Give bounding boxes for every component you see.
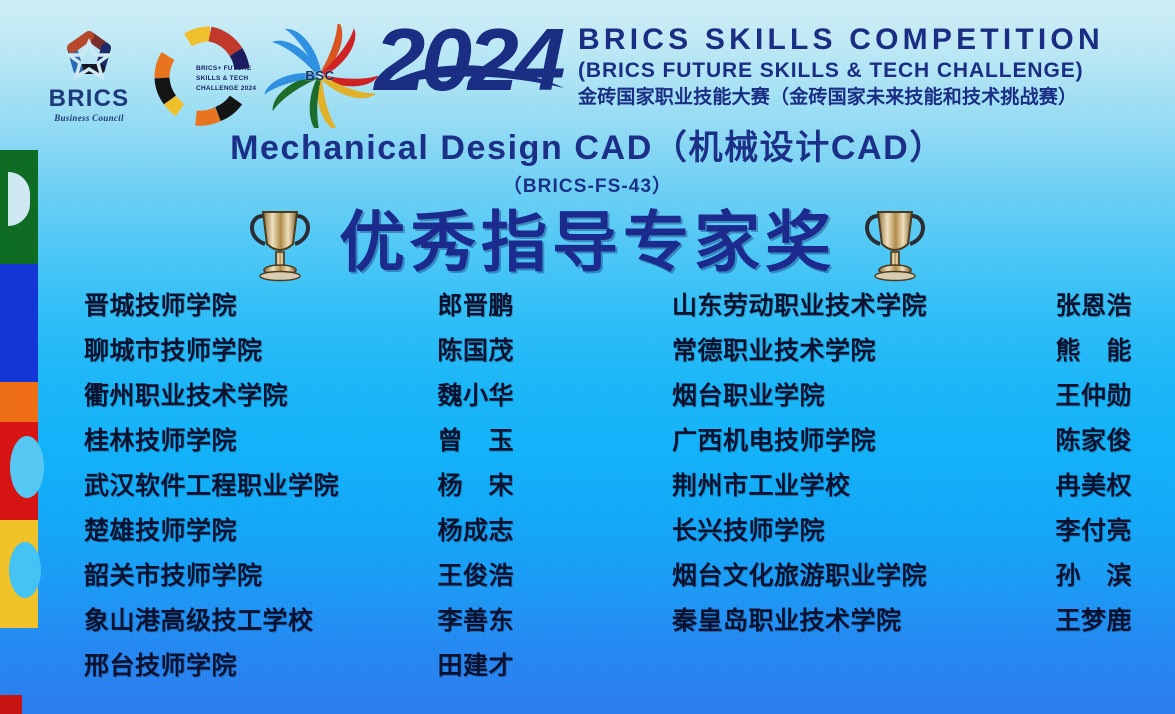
- headline-english-line2: (BRICS FUTURE SKILLS & TECH CHALLENGE): [578, 58, 1174, 83]
- year-2024-graphic: 2024: [378, 24, 578, 124]
- school-name: 山东劳动职业技术学院: [672, 286, 927, 322]
- brics-star-icon: [58, 28, 120, 86]
- expert-name: 张恩浩: [1028, 286, 1132, 322]
- school-name: 韶关市技师学院: [84, 556, 263, 592]
- winner-row: 象山港高级技工学校 李善东: [84, 601, 514, 646]
- bsc-wordmark: BSC: [262, 68, 378, 83]
- school-name: 楚雄技师学院: [84, 511, 237, 547]
- competition-subtitle: Mechanical Design CAD（机械设计CAD）: [0, 128, 1175, 168]
- expert-name: 王仲勋: [1028, 376, 1132, 412]
- school-name: 邢台技师学院: [84, 646, 237, 682]
- expert-name: 王俊浩: [418, 556, 514, 592]
- headline-english-line1: BRICS SKILLS COMPETITION: [578, 24, 1174, 56]
- ring-text-line2: SKILLS & TECH: [196, 74, 258, 84]
- expert-name: 杨成志: [418, 511, 514, 547]
- expert-name: 孙 滨: [1028, 556, 1132, 592]
- winner-row: 广西机电技师学院 陈家俊: [672, 421, 1132, 466]
- bbc-tagline: Business Council: [40, 113, 138, 123]
- edge-red-dot: [0, 695, 22, 714]
- bbc-wordmark: BRICS: [40, 87, 138, 111]
- award-title-row: 优秀指导专家奖: [0, 196, 1175, 290]
- winner-row: 秦皇岛职业技术学院 王梦鹿: [672, 601, 1132, 646]
- winners-column-left: 晋城技师学院 郎晋鹏 聊城市技师学院 陈国茂 衢州职业技术学院 魏小华 桂林技师…: [84, 286, 514, 691]
- ring-text-line3: CHALLENGE 2024: [196, 84, 258, 94]
- award-title: 优秀指导专家奖: [339, 210, 836, 276]
- winner-row: 邢台技师学院 田建才: [84, 646, 514, 691]
- headline-chinese: 金砖国家职业技能大赛（金砖国家未来技能和技术挑战赛）: [578, 86, 1174, 110]
- expert-name: 郎晋鹏: [418, 286, 514, 322]
- school-name: 武汉软件工程职业学院: [84, 466, 339, 502]
- school-name: 烟台文化旅游职业学院: [672, 556, 927, 592]
- expert-name: 田建才: [418, 646, 514, 682]
- winner-row: 楚雄技师学院 杨成志: [84, 511, 514, 556]
- winner-row: 桂林技师学院 曾 玉: [84, 421, 514, 466]
- expert-name: 冉美权: [1028, 466, 1132, 502]
- school-name: 衢州职业技术学院: [84, 376, 288, 412]
- competition-code: （BRICS-FS-43）: [0, 171, 1175, 198]
- winner-row: 衢州职业技术学院 魏小华: [84, 376, 514, 421]
- winner-row: 常德职业技术学院 熊 能: [672, 331, 1132, 376]
- expert-name: 陈家俊: [1028, 421, 1132, 457]
- school-name: 桂林技师学院: [84, 421, 237, 457]
- expert-name: 王梦鹿: [1028, 601, 1132, 637]
- school-name: 长兴技师学院: [672, 511, 825, 547]
- school-name: 秦皇岛职业技术学院: [672, 601, 902, 637]
- trophy-icon-right: [858, 202, 932, 284]
- expert-name: 陈国茂: [418, 331, 514, 367]
- winner-row: 聊城市技师学院 陈国茂: [84, 331, 514, 376]
- winner-row: 韶关市技师学院 王俊浩: [84, 556, 514, 601]
- winner-row: 山东劳动职业技术学院 张恩浩: [672, 286, 1132, 331]
- year-number: 2024: [374, 16, 561, 104]
- winner-row: 长兴技师学院 李付亮: [672, 511, 1132, 556]
- school-name: 烟台职业学院: [672, 376, 825, 412]
- poster-stage: BRICS Business Council BRICS+ FUTURE: [0, 0, 1175, 714]
- winners-columns: 晋城技师学院 郎晋鹏 聊城市技师学院 陈国茂 衢州职业技术学院 魏小华 桂林技师…: [0, 286, 1175, 686]
- expert-name: 曾 玉: [418, 421, 514, 457]
- winners-column-right: 山东劳动职业技术学院 张恩浩 常德职业技术学院 熊 能 烟台职业学院 王仲勋 广…: [672, 286, 1132, 646]
- school-name: 象山港高级技工学校: [84, 601, 314, 637]
- expert-name: 魏小华: [418, 376, 514, 412]
- winner-row: 荆州市工业学校 冉美权: [672, 466, 1132, 511]
- ring-logo-text: BRICS+ FUTURE SKILLS & TECH CHALLENGE 20…: [196, 64, 258, 94]
- school-name: 常德职业技术学院: [672, 331, 876, 367]
- logo-row: BRICS Business Council BRICS+ FUTURE: [0, 0, 1175, 132]
- brics-business-council-logo: BRICS Business Council: [40, 28, 138, 124]
- school-name: 聊城市技师学院: [84, 331, 263, 367]
- winner-row: 烟台职业学院 王仲勋: [672, 376, 1132, 421]
- ring-text-line1: BRICS+ FUTURE: [196, 64, 258, 74]
- headline-block: BRICS SKILLS COMPETITION (BRICS FUTURE S…: [578, 24, 1174, 109]
- winner-row: 烟台文化旅游职业学院 孙 滨: [672, 556, 1132, 601]
- brics-future-skills-logo: BRICS+ FUTURE SKILLS & TECH CHALLENGE 20…: [148, 22, 260, 126]
- school-name: 晋城技师学院: [84, 286, 237, 322]
- expert-name: 李付亮: [1028, 511, 1132, 547]
- school-name: 广西机电技师学院: [672, 421, 876, 457]
- expert-name: 李善东: [418, 601, 514, 637]
- bsc-logo: BSC: [262, 24, 378, 128]
- expert-name: 杨 宋: [418, 466, 514, 502]
- school-name: 荆州市工业学校: [672, 466, 851, 502]
- winner-row: 晋城技师学院 郎晋鹏: [84, 286, 514, 331]
- trophy-icon-left: [243, 202, 317, 284]
- subtitle-area: Mechanical Design CAD（机械设计CAD） （BRICS-FS…: [0, 128, 1175, 198]
- winner-row: 武汉软件工程职业学院 杨 宋: [84, 466, 514, 511]
- expert-name: 熊 能: [1028, 331, 1132, 367]
